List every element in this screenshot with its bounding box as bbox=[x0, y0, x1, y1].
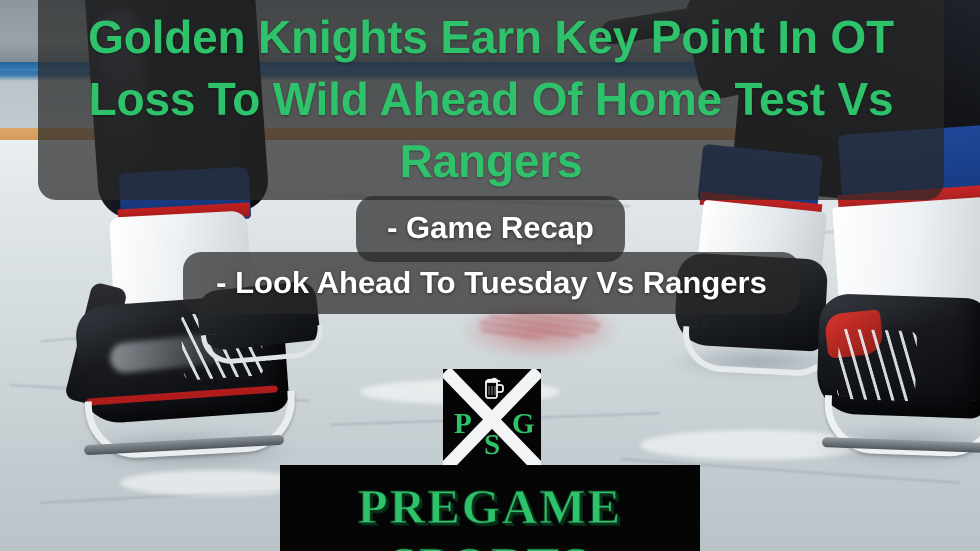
subheading-look-ahead: - Look Ahead To Tuesday Vs Rangers bbox=[183, 260, 800, 306]
featured-image-graphic: Golden Knights Earn Key Point In OT Loss… bbox=[0, 0, 980, 551]
logo-letter-s: S bbox=[484, 431, 500, 460]
center-ice-logo-detail bbox=[480, 312, 600, 338]
pregame-sports-logo-mark: P G S bbox=[443, 369, 541, 469]
headline-text: Golden Knights Earn Key Point In OT Loss… bbox=[38, 6, 944, 192]
logo-letter-g: G bbox=[512, 410, 535, 439]
beer-mug-icon bbox=[481, 375, 507, 401]
subheading-game-recap: - Game Recap bbox=[356, 205, 625, 251]
right-player-front-skate-laces bbox=[837, 329, 917, 402]
brand-wordmark-text: PREGAME SPORTS bbox=[280, 478, 700, 551]
logo-letter-p: P bbox=[454, 410, 472, 439]
brand-banner: PREGAME SPORTS bbox=[280, 465, 700, 551]
